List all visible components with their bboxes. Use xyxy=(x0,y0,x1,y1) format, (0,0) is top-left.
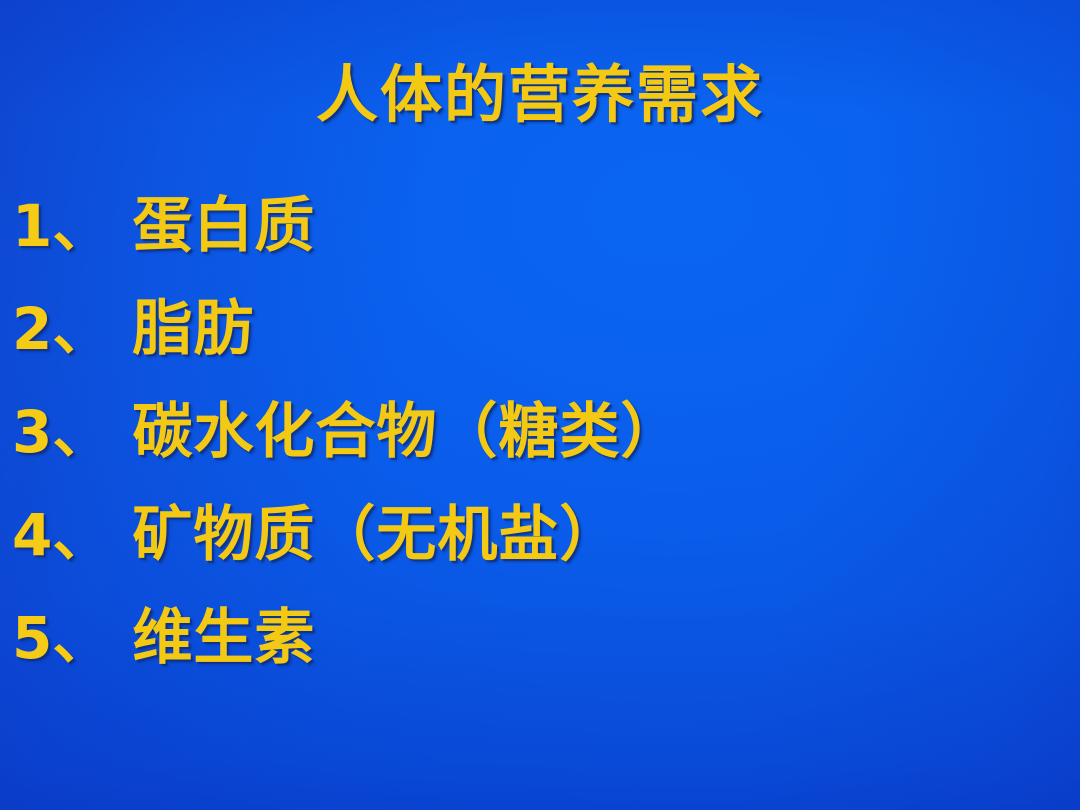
slide-content: 人体的营养需求 1 、 蛋白质 2 、 脂肪 3 、 碳水化合物（糖类） 4 、… xyxy=(0,0,1080,810)
list-item-number: 5 xyxy=(12,609,52,667)
list-item: 2 、 脂肪 xyxy=(12,299,1068,402)
list-item: 4 、 矿物质（无机盐） xyxy=(12,505,1068,608)
list-item-separator: 、 xyxy=(52,403,110,461)
presentation-slide: 人体的营养需求 1 、 蛋白质 2 、 脂肪 3 、 碳水化合物（糖类） 4 、… xyxy=(0,0,1080,810)
list-item-label: 蛋白质 xyxy=(132,196,315,256)
list-item-label: 碳水化合物（糖类） xyxy=(132,402,681,462)
list-item-separator: 、 xyxy=(52,197,110,255)
list-item-number: 3 xyxy=(12,403,52,461)
list-item-label: 脂肪 xyxy=(132,299,254,359)
slide-title: 人体的营养需求 xyxy=(0,64,1080,126)
list-item: 3 、 碳水化合物（糖类） xyxy=(12,402,1068,505)
list-item-label: 维生素 xyxy=(132,608,315,668)
list-item-number: 1 xyxy=(12,197,52,255)
list-item: 1 、 蛋白质 xyxy=(12,196,1068,299)
list-item-label: 矿物质（无机盐） xyxy=(132,505,620,565)
list-item-number: 2 xyxy=(12,300,52,358)
list-item: 5 、 维生素 xyxy=(12,608,1068,711)
list-item-separator: 、 xyxy=(52,609,110,667)
list-item-separator: 、 xyxy=(52,506,110,564)
nutrient-list: 1 、 蛋白质 2 、 脂肪 3 、 碳水化合物（糖类） 4 、 矿物质（无机盐… xyxy=(12,196,1068,711)
list-item-number: 4 xyxy=(12,506,52,564)
list-item-separator: 、 xyxy=(52,300,110,358)
